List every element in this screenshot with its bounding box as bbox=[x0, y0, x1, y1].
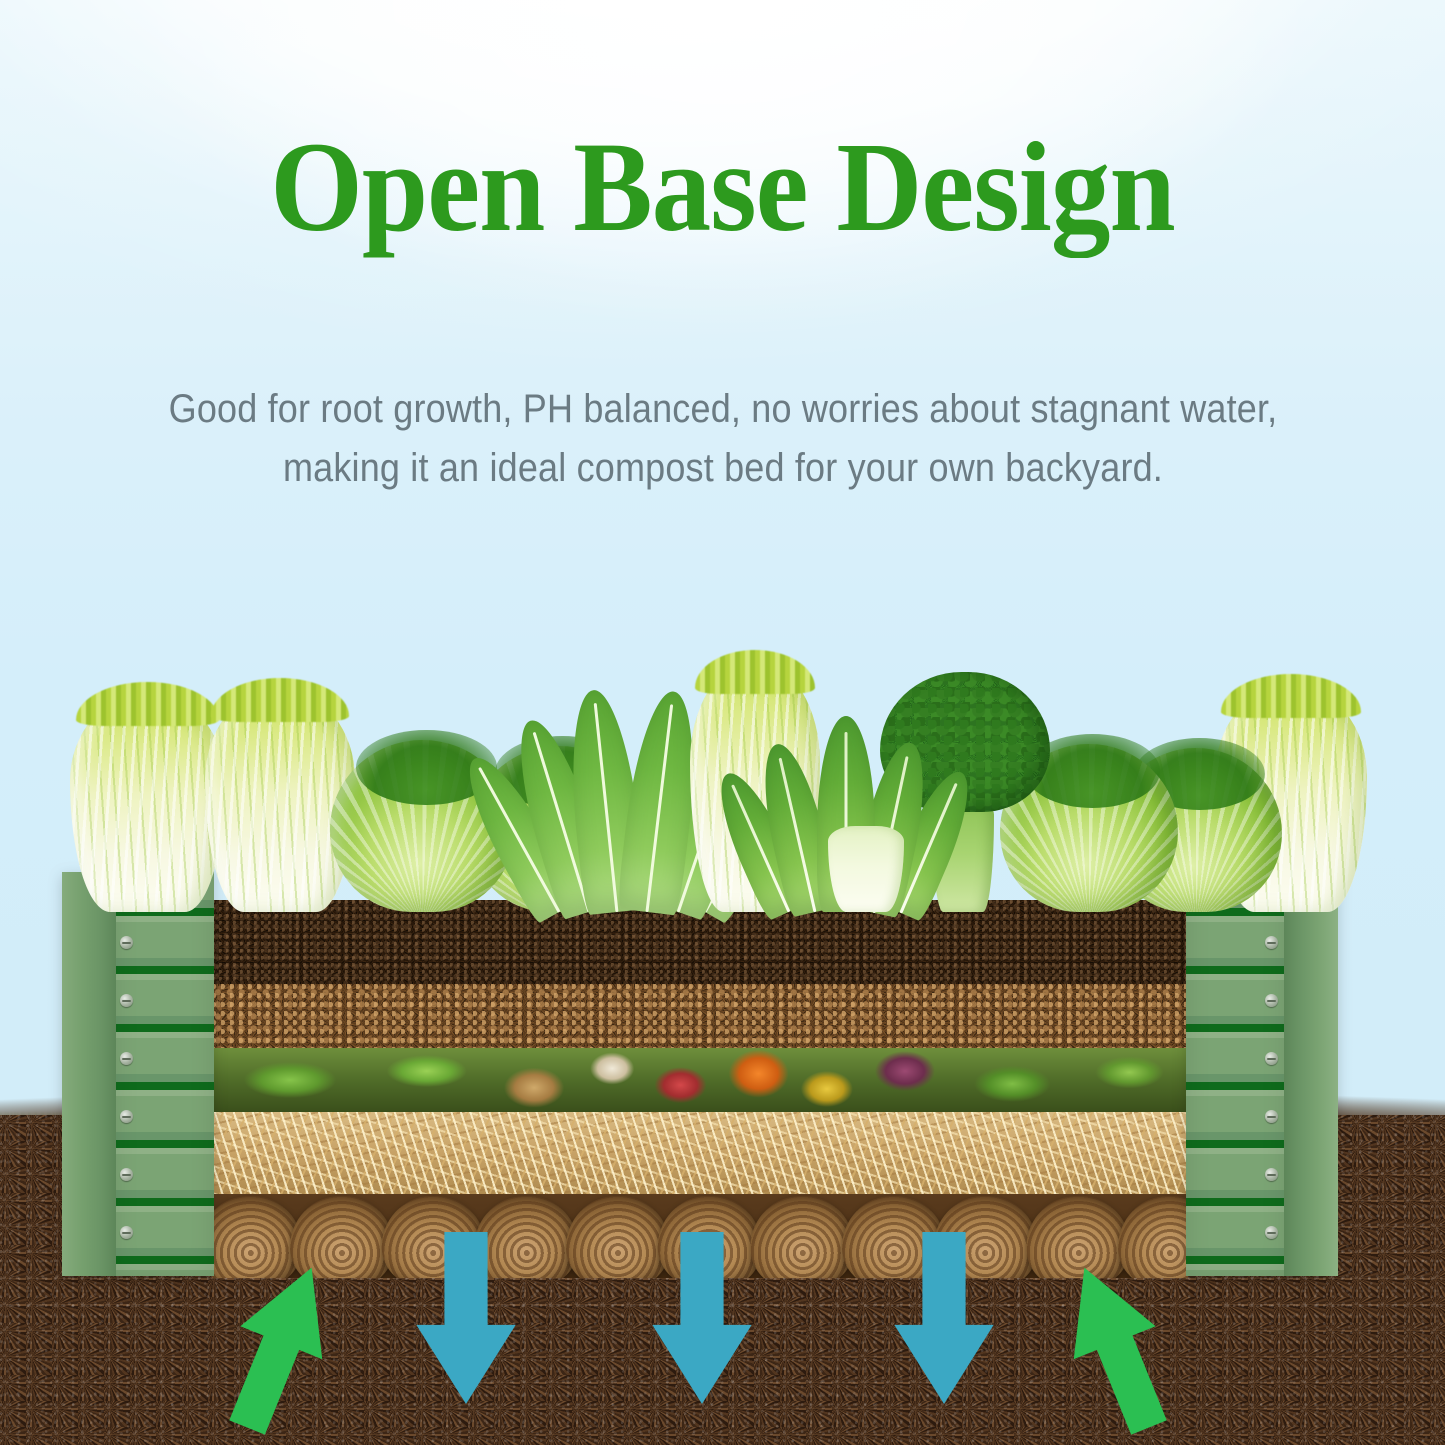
post-screw bbox=[1265, 936, 1278, 949]
post-screw bbox=[1265, 1110, 1278, 1123]
post-screw bbox=[120, 1052, 133, 1065]
page-subtitle: Good for root growth, PH balanced, no wo… bbox=[133, 380, 1312, 498]
page-title: Open Base Design bbox=[51, 122, 1395, 253]
subtitle-line-1: Good for root growth, PH balanced, no wo… bbox=[133, 380, 1312, 439]
post-screw bbox=[1265, 1226, 1278, 1239]
right-post-side-edge bbox=[1284, 872, 1338, 1276]
post-screw bbox=[120, 1168, 133, 1181]
subtitle-line-2: making it an ideal compost bed for your … bbox=[133, 439, 1312, 498]
drainage-down-arrow-3 bbox=[890, 1232, 998, 1404]
left-post-side-edge bbox=[62, 872, 116, 1276]
post-screw bbox=[120, 936, 133, 949]
post-screw bbox=[1265, 1168, 1278, 1181]
left-post-slat-face bbox=[114, 864, 214, 1276]
drainage-down-arrow-2 bbox=[648, 1232, 756, 1404]
bok-choy-stem bbox=[828, 826, 904, 912]
log-round bbox=[747, 1194, 857, 1278]
post-screw bbox=[1265, 1052, 1278, 1065]
post-screw bbox=[1265, 994, 1278, 1007]
left-corner-post bbox=[62, 864, 214, 1276]
vegetable-row bbox=[0, 600, 1445, 912]
post-screw bbox=[120, 1110, 133, 1123]
layer-straw bbox=[212, 1112, 1188, 1194]
plant-napa-cabbage bbox=[70, 694, 225, 912]
right-post-slat-face bbox=[1186, 864, 1286, 1276]
drainage-down-arrow-1 bbox=[412, 1232, 520, 1404]
plant-bok-choy bbox=[790, 644, 950, 912]
compost-bed-cross-section bbox=[212, 900, 1188, 1278]
plant-napa-cabbage bbox=[205, 690, 355, 912]
layer-compost bbox=[212, 984, 1188, 1048]
layer-kitchen-scraps bbox=[212, 1048, 1188, 1112]
post-screw bbox=[120, 994, 133, 1007]
post-screw bbox=[120, 1226, 133, 1239]
right-corner-post bbox=[1186, 864, 1338, 1276]
